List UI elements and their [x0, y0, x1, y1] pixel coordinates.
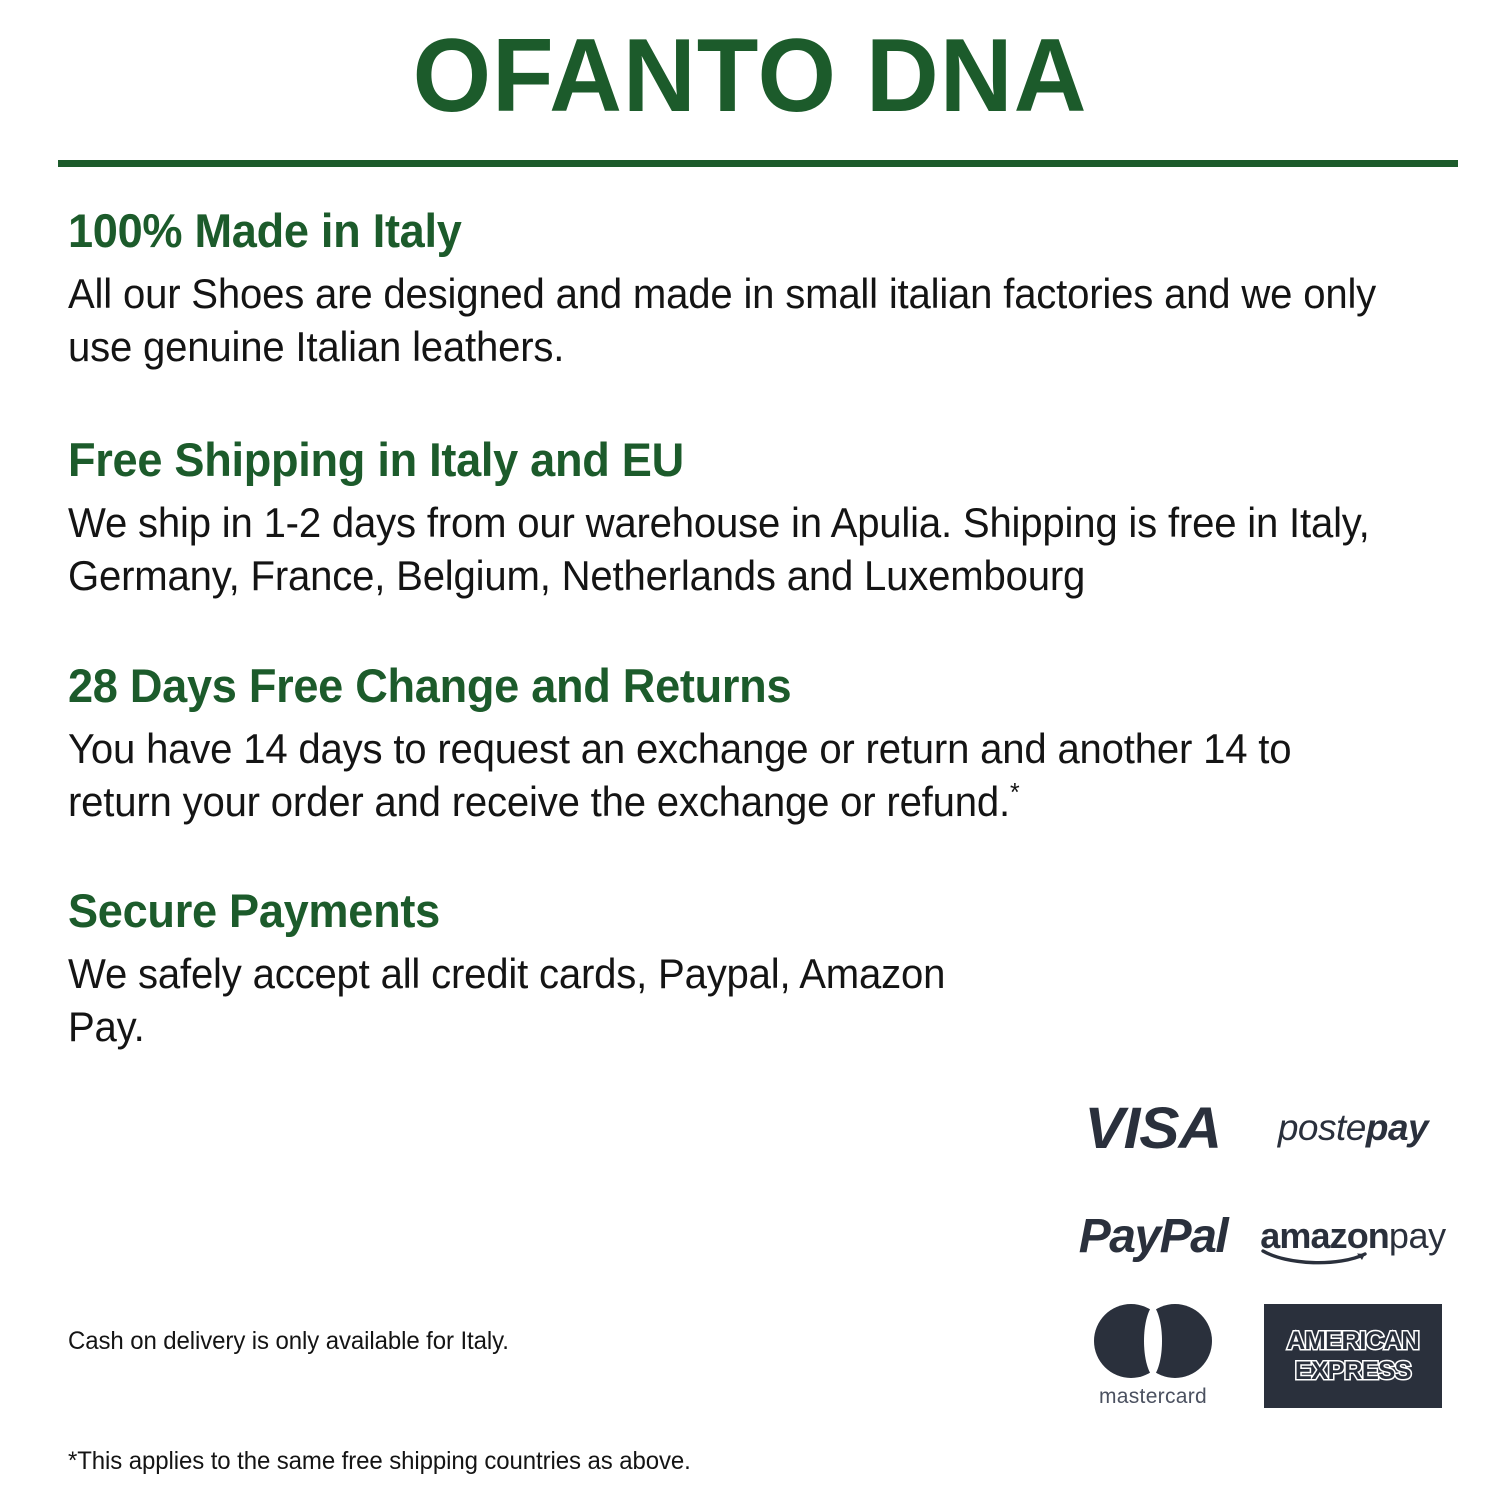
mastercard-overlap-lens [1131, 1304, 1175, 1378]
visa-logo-slot: VISA [1055, 1095, 1251, 1162]
section-heading-made-in-italy: 100% Made in Italy [68, 206, 1387, 257]
amazon-pay-logo-slot: amazonpay [1251, 1218, 1455, 1254]
paypal-logo-icon: PayPal [1079, 1209, 1227, 1264]
amex-wordmark-line1: AMERICAN [1287, 1329, 1420, 1354]
mastercard-logo-icon: mastercard [1094, 1304, 1212, 1409]
section-body-free-shipping: We ship in 1-2 days from our warehouse i… [68, 496, 1380, 603]
footnote-free-shipping-countries: *This applies to the same free shipping … [68, 1445, 691, 1478]
secure-payments-text: Secure Payments We safely accept all cre… [68, 886, 1048, 1053]
amex-wordmark-line2: EXPRESS [1295, 1359, 1411, 1384]
mastercard-wordmark: mastercard [1094, 1385, 1212, 1409]
ofanto-dna-info-panel: OFANTO DNA 100% Made in Italy All our Sh… [0, 0, 1500, 1500]
section-heading-returns: 28 Days Free Change and Returns [68, 661, 1387, 712]
american-express-logo-icon: AMERICAN EXPRESS [1264, 1304, 1442, 1408]
postepay-label-part2: pay [1366, 1107, 1428, 1148]
mastercard-circles [1094, 1304, 1212, 1378]
section-heading-secure-payments: Secure Payments [68, 886, 1009, 937]
cash-on-delivery-note: Cash on delivery is only available for I… [68, 1325, 509, 1358]
payment-logo-row-1: VISA postepay [1055, 1085, 1455, 1171]
returns-footnote-marker: * [1010, 777, 1019, 807]
section-free-shipping: Free Shipping in Italy and EU We ship in… [0, 435, 1500, 602]
section-body-made-in-italy: All our Shoes are designed and made in s… [68, 267, 1380, 374]
section-secure-payments: Secure Payments We safely accept all cre… [0, 886, 1500, 1053]
paypal-logo-slot: PayPal [1055, 1209, 1251, 1264]
postepay-label-part1: poste [1278, 1107, 1366, 1148]
amex-logo-slot: AMERICAN EXPRESS [1251, 1304, 1455, 1408]
payment-logo-row-3: mastercard AMERICAN EXPRESS [1055, 1301, 1455, 1411]
postepay-logo-icon: postepay [1278, 1107, 1428, 1149]
section-returns: 28 Days Free Change and Returns You have… [0, 661, 1500, 828]
postepay-logo-slot: postepay [1251, 1107, 1455, 1149]
amazon-pay-label: pay [1389, 1215, 1446, 1256]
section-heading-free-shipping: Free Shipping in Italy and EU [68, 435, 1387, 486]
page-title: OFANTO DNA [23, 0, 1478, 128]
section-body-secure-payments: We safely accept all credit cards, Paypa… [68, 947, 1004, 1054]
header-divider [58, 160, 1458, 167]
payment-logos: VISA postepay PayPal amazonpay [1055, 1085, 1455, 1411]
content-area: 100% Made in Italy All our Shoes are des… [0, 200, 1500, 1054]
payment-logo-row-2: PayPal amazonpay [1055, 1193, 1455, 1279]
section-body-returns-text: You have 14 days to request an exchange … [68, 725, 1291, 825]
mastercard-logo-slot: mastercard [1055, 1304, 1251, 1409]
amazon-smile-arrow-icon [1261, 1248, 1381, 1266]
amazon-pay-logo-icon: amazonpay [1260, 1218, 1445, 1254]
section-made-in-italy: 100% Made in Italy All our Shoes are des… [0, 206, 1500, 373]
section-body-returns: You have 14 days to request an exchange … [68, 722, 1380, 829]
visa-logo-icon: VISA [1085, 1095, 1222, 1162]
